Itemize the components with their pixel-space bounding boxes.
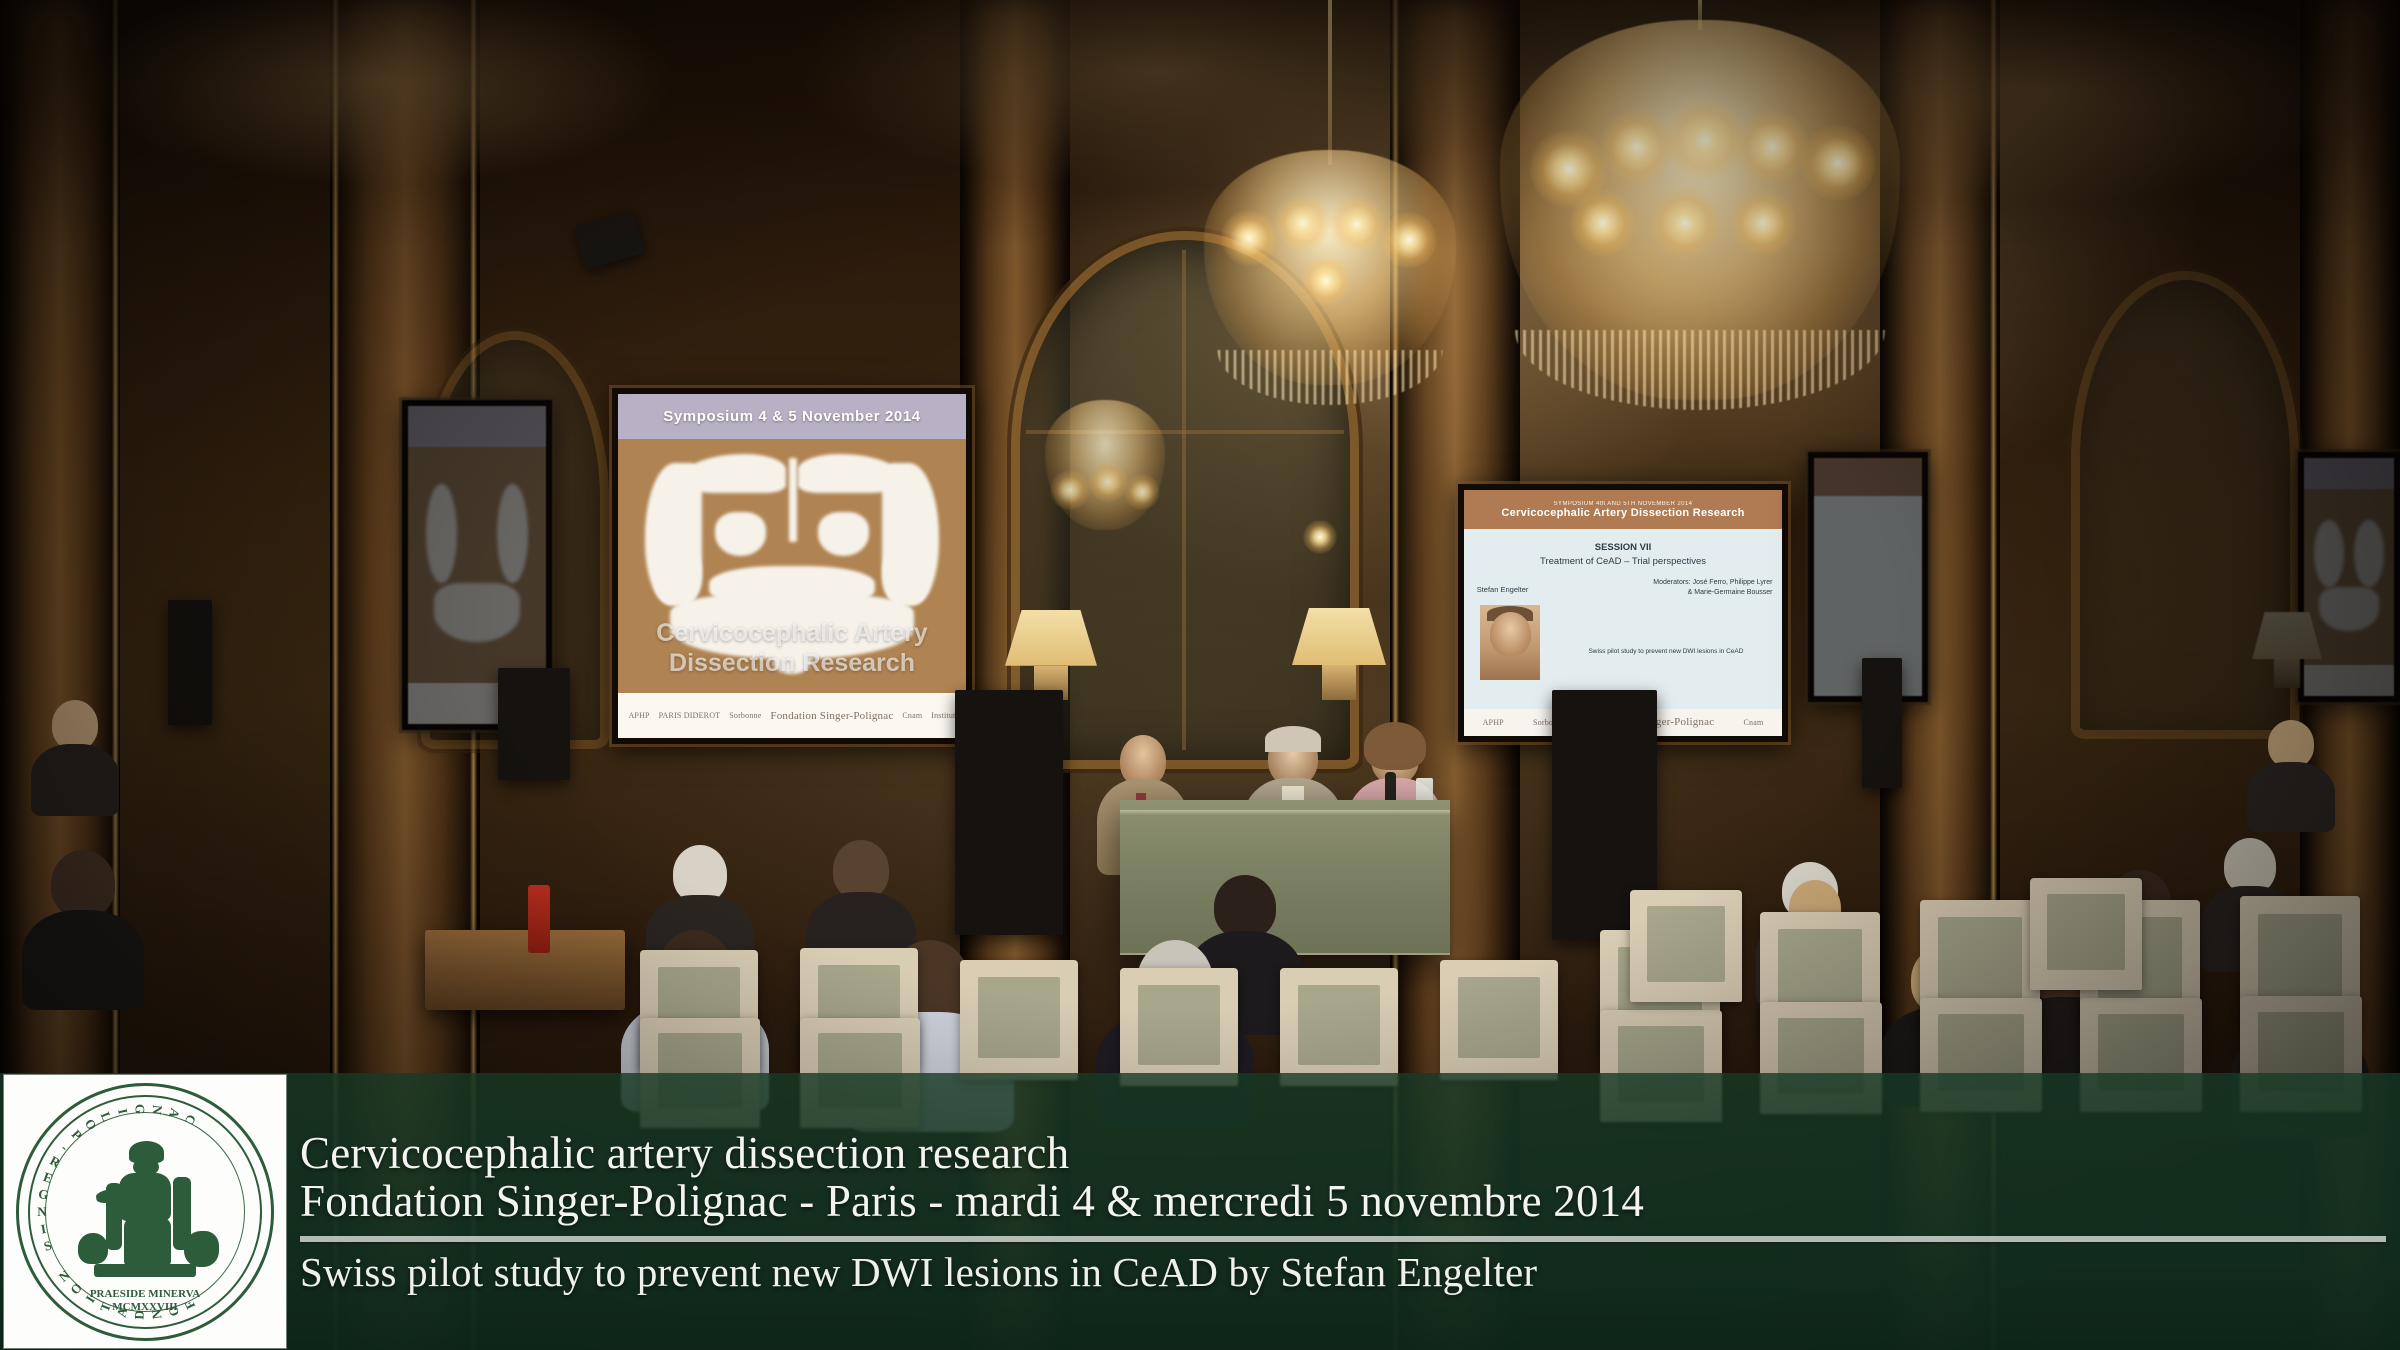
session-label: SESSION VII [1464,542,1782,553]
chandelier-rod [1328,0,1332,165]
slide-far-right-b-header [2304,458,2394,489]
lamp-base [2274,659,2299,688]
slide-left-ct-image: Cervicocephalic Artery Dissection Resear… [618,439,966,694]
chandelier-crystal-drops [1515,330,1885,410]
chandelier-light-4 [1381,212,1437,268]
slide-reflection-image [408,447,546,682]
moderators-line-1: Moderators: José Ferro, Philippe Lyrer [1575,578,1772,588]
video-frame: Symposium 4 & 5 November 2014 [0,0,2400,1350]
slide-left-header-text: Symposium 4 & 5 November 2014 [663,408,921,425]
slide-left: Symposium 4 & 5 November 2014 [618,394,966,738]
table-lamp-right [1292,608,1386,700]
audience-head [833,840,889,900]
chandelier-center [1195,0,1465,410]
gilded-console-table [425,930,625,1010]
table-lamp-far-right [2252,612,2322,688]
slide-right-body: SESSION VII Treatment of CeAD – Trial pe… [1464,529,1782,709]
audience-chair [1440,960,1558,1080]
minerva-throne [106,1183,122,1250]
slide-left-overlay-title: Cervicocephalic Artery Dissection Resear… [618,619,966,678]
ct-midline [789,458,797,541]
minerva-torso [119,1173,170,1221]
chandelier-light-3 [1329,196,1385,252]
pa-speaker-left [168,600,212,725]
lower-third-banner: FONDATION SINGER-POLIGNAC PRAESIDE MINER… [0,1073,2400,1350]
chandelier-light-8 [1730,190,1796,256]
logo-box: FONDATION SINGER-POLIGNAC PRAESIDE MINER… [4,1075,286,1348]
banner-talk-line: Swiss pilot study to prevent new DWI les… [300,1251,2386,1293]
lamp-shade [2252,612,2322,659]
speaker-portrait [1480,605,1540,680]
overlay-line-2: Dissection Research [618,649,966,679]
ct-bone-structure [497,484,527,583]
table-lamp-left [1005,610,1097,700]
sponsor-logo: Sorbonne [729,703,761,729]
audience-head [51,850,115,918]
brain-ct-scan-reflection [414,452,541,678]
banner-divider [300,1236,2386,1242]
seal-motto-line-2: MCMXXVIII [19,1301,271,1314]
chandelier-light-5 [1800,125,1876,201]
audience-member [20,850,145,1010]
chandelier-main [1490,0,1910,470]
ct-bone-structure [2314,520,2344,588]
ct-occiput [2319,587,2379,631]
lamp-shade [1292,608,1386,665]
panelist-hair [1265,726,1321,752]
fire-extinguisher [528,885,550,953]
session-title: Treatment of CeAD – Trial perspectives [1464,556,1782,567]
slide-far-right-header [1814,458,1922,496]
sponsor-logo: Cnam [1743,715,1763,731]
ct-bone-structure [798,454,900,493]
chandelier-light-5 [1301,256,1351,306]
lamp-base [1322,665,1356,700]
banner-text-block: Cervicocephalic artery dissection resear… [300,1073,2386,1350]
chandelier-light-6 [1570,190,1636,256]
overlay-line-1: Cervicocephalic Artery [618,619,966,649]
moderators-line-2: & Marie-Germaine Bousser [1575,588,1772,598]
sponsor-logo: APHP [1483,715,1504,731]
chandelier-light-2 [1275,195,1331,251]
minerva-plinth [94,1264,196,1277]
audience-torso [2247,762,2335,832]
chandelier-light-3 [1665,100,1745,180]
ct-bone-structure [818,512,869,556]
chandelier-mirrored [1040,400,1170,600]
audience-torso [31,744,119,816]
sponsor-logo: Fondation Singer-Polignac [770,703,893,729]
audience-chair [1120,968,1238,1086]
chandelier-light-1 [1050,470,1090,510]
chandelier-light-4 [1735,110,1809,184]
sponsor-logo: PARIS DIDEROT [659,703,721,729]
slide-right-kicker: SYMPOSIUM 4th AND 5TH NOVEMBER 2014 [1554,501,1693,507]
slide-right-header-title: Cervicocephalic Artery Dissection Resear… [1501,507,1744,519]
seal-motto: PRAESIDE MINERVA MCMXXVIII [19,1288,271,1313]
seal-motto-line-1: PRAESIDE MINERVA [19,1288,271,1301]
pa-speaker-right [1862,658,1902,788]
pa-speaker-center [498,668,570,780]
sponsor-logo: Institut [931,703,955,729]
chandelier-light-1 [1221,210,1277,266]
speaker-name: Stefan Engelter [1477,585,1529,594]
sponsor-logo: Cnam [902,703,922,729]
chandelier-pendant-light [1303,520,1337,554]
audience-member [30,700,120,815]
minerva-foliage [184,1231,219,1267]
slide-reflection-header [408,406,546,447]
minerva-legs [124,1218,170,1266]
chandelier-light-3 [1124,474,1160,510]
ct-bone-structure [683,454,785,493]
sponsor-logo: APHP [628,703,649,729]
chandelier-light-2 [1088,462,1128,502]
fondation-seal-icon: FONDATION SINGER-POLIGNAC PRAESIDE MINER… [16,1083,274,1341]
portrait-face [1490,612,1531,656]
projection-screen-left: Symposium 4 & 5 November 2014 [612,388,972,744]
audience-chair [1630,890,1742,1002]
ct-bone-structure [426,484,456,583]
panelist-hair [1364,722,1426,770]
audience-head [52,700,98,750]
ct-bone-structure [2354,520,2384,588]
audience-chair [1280,968,1398,1086]
audience-torso [22,910,144,1010]
ct-bone-structure [715,512,766,556]
chandelier-light-7 [1650,188,1720,258]
audience-chair [2030,878,2142,990]
minerva-owl [78,1233,108,1264]
moderators-block: Moderators: José Ferro, Philippe Lyrer &… [1575,578,1772,598]
slide-left-header: Symposium 4 & 5 November 2014 [618,394,966,439]
ct-bone-structure [654,542,702,606]
mirror-mullion-v [1182,250,1186,750]
chandelier-light-2 [1600,110,1674,184]
ct-bone-structure [882,542,930,606]
slide-left-sponsor-strip: APHP PARIS DIDEROT Sorbonne Fondation Si… [618,693,966,738]
seal-minerva-figure [87,1141,203,1281]
banner-title-line: Cervicocephalic artery dissection resear… [300,1130,2386,1176]
audience-head [2268,720,2314,768]
banner-venue-line: Fondation Singer-Polignac - Paris - mard… [300,1178,2386,1224]
chandelier-crystal-drops [1218,350,1443,405]
audience-member [2246,720,2336,830]
audience-head [1214,875,1276,939]
lamp-shade [1005,610,1097,666]
talk-title: Swiss pilot study to prevent new DWI les… [1559,648,1772,655]
audience-chair [960,960,1078,1080]
pa-speaker-stage-right [955,690,1063,935]
slide-right-header: SYMPOSIUM 4th AND 5TH NOVEMBER 2014 Cerv… [1464,490,1782,529]
ct-occiput [434,583,520,642]
